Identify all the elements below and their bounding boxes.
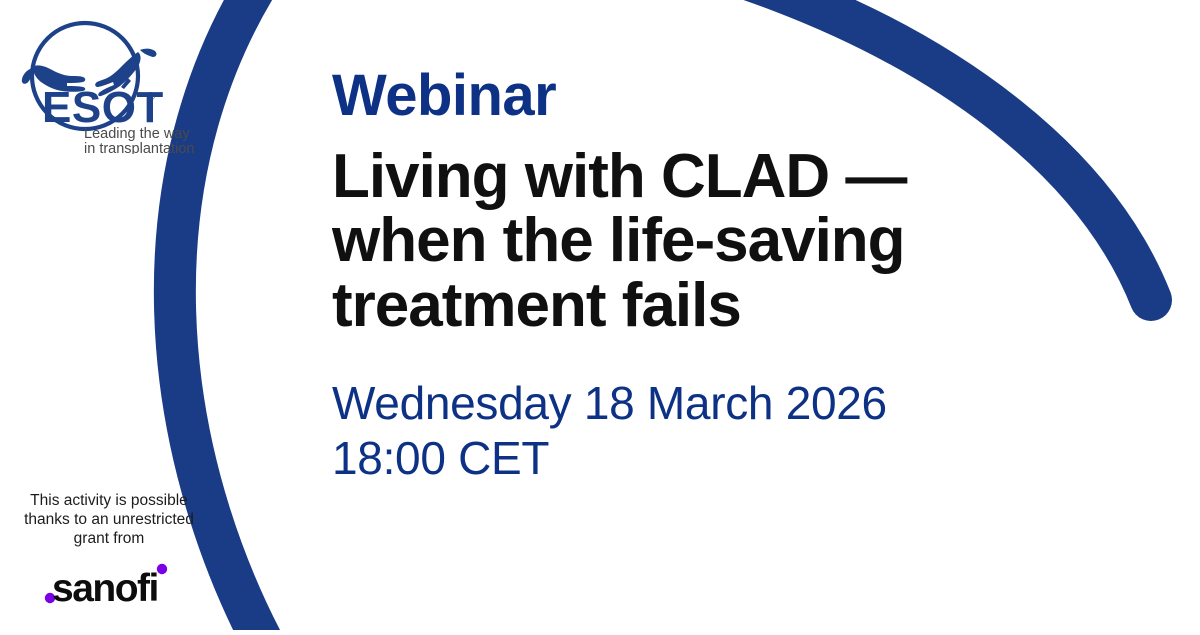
esot-trademark-symbol: ®: [147, 91, 155, 103]
sanofi-logo[interactable]: sanofi: [34, 560, 184, 608]
esot-tagline-line2: in transplantation: [84, 141, 194, 154]
esot-tagline-line1: Leading the way: [84, 126, 190, 142]
webinar-datetime: Wednesday 18 March 2026 18:00 CET: [332, 376, 1032, 485]
sanofi-i-dot: [157, 564, 167, 574]
esot-logo-mark: ESOT ® Leading the way in transplantatio…: [14, 14, 210, 154]
esot-logo[interactable]: ESOT ® Leading the way in transplantatio…: [14, 14, 210, 154]
sponsor-block: This activity is possible thanks to an u…: [0, 492, 218, 608]
sponsor-note: This activity is possible thanks to an u…: [0, 492, 218, 549]
webinar-title: Living with CLAD — when the life-saving …: [332, 145, 1032, 338]
promo-content: Webinar Living with CLAD — when the life…: [332, 66, 1032, 485]
kicker-label: Webinar: [332, 66, 1032, 127]
esot-wordmark: ESOT: [42, 83, 164, 132]
sanofi-wordmark: sanofi: [52, 567, 158, 608]
webinar-promo-banner: ESOT ® Leading the way in transplantatio…: [0, 0, 1200, 630]
